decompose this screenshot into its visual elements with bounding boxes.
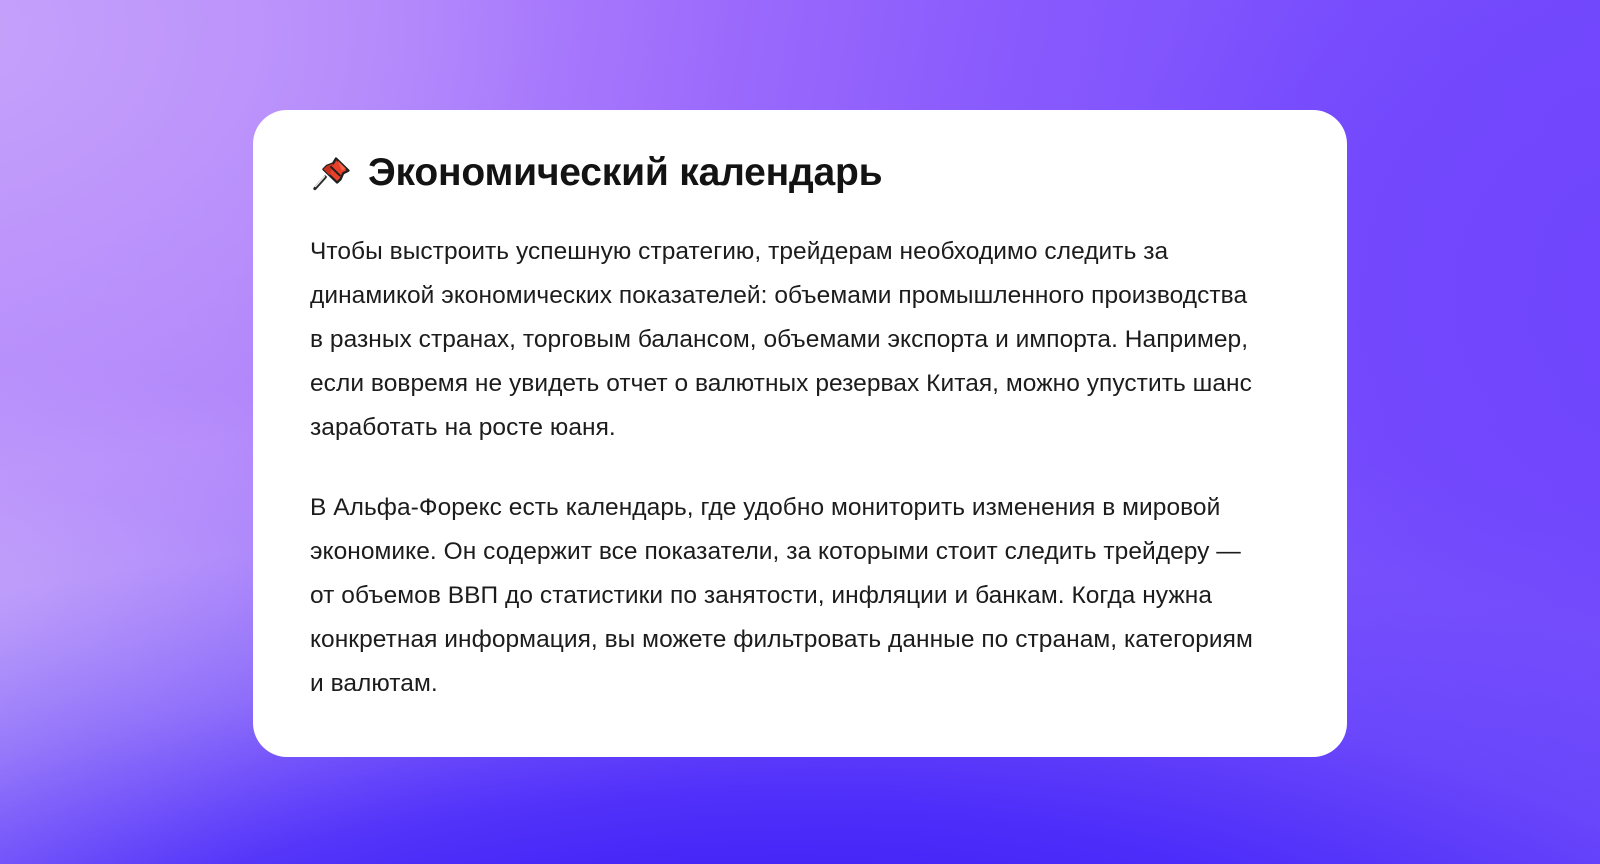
card-body: Чтобы выстроить успешную стратегию, трей… — [310, 230, 1262, 706]
page-title-text: Экономический календарь — [368, 151, 882, 196]
pushpin-icon — [310, 153, 352, 195]
paragraph-2: В Альфа-Форекс есть календарь, где удобн… — [310, 486, 1262, 706]
paragraph-1: Чтобы выстроить успешную стратегию, трей… — [310, 230, 1262, 450]
page-title: Экономический календарь — [310, 151, 1307, 196]
card-content: Экономический календарь Чтобы выстроить … — [310, 151, 1307, 706]
page-background: Экономический календарь Чтобы выстроить … — [0, 0, 1600, 864]
info-card: Экономический календарь Чтобы выстроить … — [253, 110, 1347, 757]
